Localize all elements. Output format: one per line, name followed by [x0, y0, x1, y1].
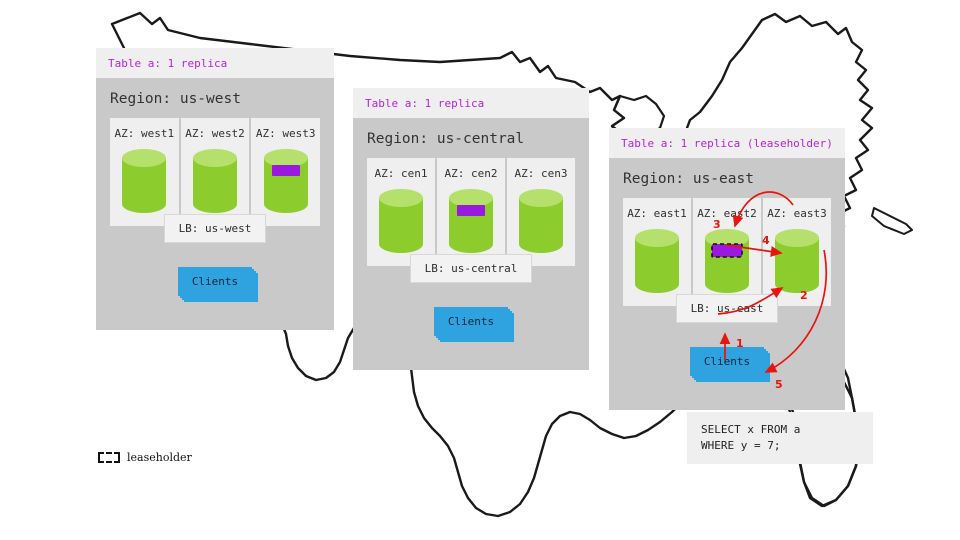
region-title-us-east: Region: us-east	[609, 158, 845, 198]
cylinder-west2[interactable]	[192, 148, 238, 218]
clients-stack-us-central[interactable]: Clients	[434, 307, 508, 336]
legend: leaseholder	[98, 451, 192, 464]
az-label-west1: AZ: west1	[115, 127, 175, 140]
az-label-east1: AZ: east1	[627, 207, 687, 220]
leaseholder-swatch-icon	[98, 452, 120, 463]
flow-step-number-4: 4	[762, 234, 770, 247]
az-box-east2[interactable]: AZ: east2	[693, 198, 761, 306]
clients-button-us-east[interactable]: Clients	[690, 347, 764, 376]
cylinder-east2[interactable]	[704, 228, 750, 298]
region-title-us-central: Region: us-central	[353, 118, 589, 158]
region-header-us-central: Table a: 1 replica	[353, 88, 589, 118]
az-box-west1[interactable]: AZ: west1	[110, 118, 179, 226]
legend-label: leaseholder	[127, 451, 192, 464]
az-label-west3: AZ: west3	[256, 127, 316, 140]
az-label-east2: AZ: east2	[697, 207, 757, 220]
database-cylinder-icon	[192, 148, 238, 214]
flow-step-number-1: 1	[736, 337, 744, 350]
region-body-us-central: Region: us-central AZ: cen1 AZ: cen2	[353, 118, 589, 370]
az-row-us-west: AZ: west1 AZ: west2 AZ:	[110, 118, 320, 226]
sql-query-box: SELECT x FROM a WHERE y = 7;	[687, 412, 873, 464]
az-box-cen3[interactable]: AZ: cen3	[507, 158, 575, 266]
database-cylinder-icon	[378, 188, 424, 254]
database-cylinder-icon	[634, 228, 680, 294]
lb-us-west[interactable]: LB: us-west	[164, 214, 267, 243]
database-cylinder-icon	[774, 228, 820, 294]
database-cylinder-icon	[121, 148, 167, 214]
az-row-us-central: AZ: cen1 AZ: cen2	[367, 158, 575, 266]
cylinder-west3[interactable]	[263, 148, 309, 218]
region-panel-us-east: Table a: 1 replica (leaseholder) Region:…	[609, 128, 845, 410]
az-label-west2: AZ: west2	[185, 127, 245, 140]
region-header-us-west: Table a: 1 replica	[96, 48, 334, 78]
cylinder-west1[interactable]	[121, 148, 167, 218]
long-island-path	[872, 208, 912, 234]
region-header-us-east: Table a: 1 replica (leaseholder)	[609, 128, 845, 158]
cylinder-cen2[interactable]	[448, 188, 494, 258]
region-body-us-west: Region: us-west AZ: west1 AZ: west2	[96, 78, 334, 330]
leaseholder-marker-east2[interactable]	[712, 244, 742, 257]
flow-step-number-5: 5	[775, 378, 783, 391]
az-label-east3: AZ: east3	[767, 207, 827, 220]
region-body-us-east: Region: us-east AZ: east1 AZ: east2	[609, 158, 845, 410]
lb-us-central[interactable]: LB: us-central	[410, 254, 533, 283]
flow-step-number-3: 3	[713, 218, 721, 231]
az-box-east1[interactable]: AZ: east1	[623, 198, 691, 306]
database-cylinder-icon	[704, 228, 750, 294]
az-label-cen3: AZ: cen3	[515, 167, 568, 180]
az-box-cen2[interactable]: AZ: cen2	[437, 158, 505, 266]
region-panel-us-west: Table a: 1 replica Region: us-west AZ: w…	[96, 48, 334, 330]
database-cylinder-icon	[518, 188, 564, 254]
clients-button-us-central[interactable]: Clients	[434, 307, 508, 336]
az-label-cen1: AZ: cen1	[375, 167, 428, 180]
database-cylinder-icon	[448, 188, 494, 254]
lb-us-east[interactable]: LB: us-east	[676, 294, 779, 323]
cylinder-cen3[interactable]	[518, 188, 564, 258]
cylinder-cen1[interactable]	[378, 188, 424, 258]
cylinder-east3[interactable]	[774, 228, 820, 298]
clients-stack-us-east[interactable]: Clients	[690, 347, 764, 376]
clients-button-us-west[interactable]: Clients	[178, 267, 252, 296]
az-box-west3[interactable]: AZ: west3	[251, 118, 320, 226]
database-cylinder-icon	[263, 148, 309, 214]
cylinder-east1[interactable]	[634, 228, 680, 298]
az-label-cen2: AZ: cen2	[445, 167, 498, 180]
az-box-west2[interactable]: AZ: west2	[181, 118, 250, 226]
replica-marker-west3[interactable]	[272, 165, 300, 176]
region-title-us-west: Region: us-west	[96, 78, 334, 118]
flow-step-number-2: 2	[800, 289, 808, 302]
region-panel-us-central: Table a: 1 replica Region: us-central AZ…	[353, 88, 589, 370]
az-box-east3[interactable]: AZ: east3	[763, 198, 831, 306]
replica-marker-cen2[interactable]	[457, 205, 485, 216]
az-box-cen1[interactable]: AZ: cen1	[367, 158, 435, 266]
clients-stack-us-west[interactable]: Clients	[178, 267, 252, 296]
